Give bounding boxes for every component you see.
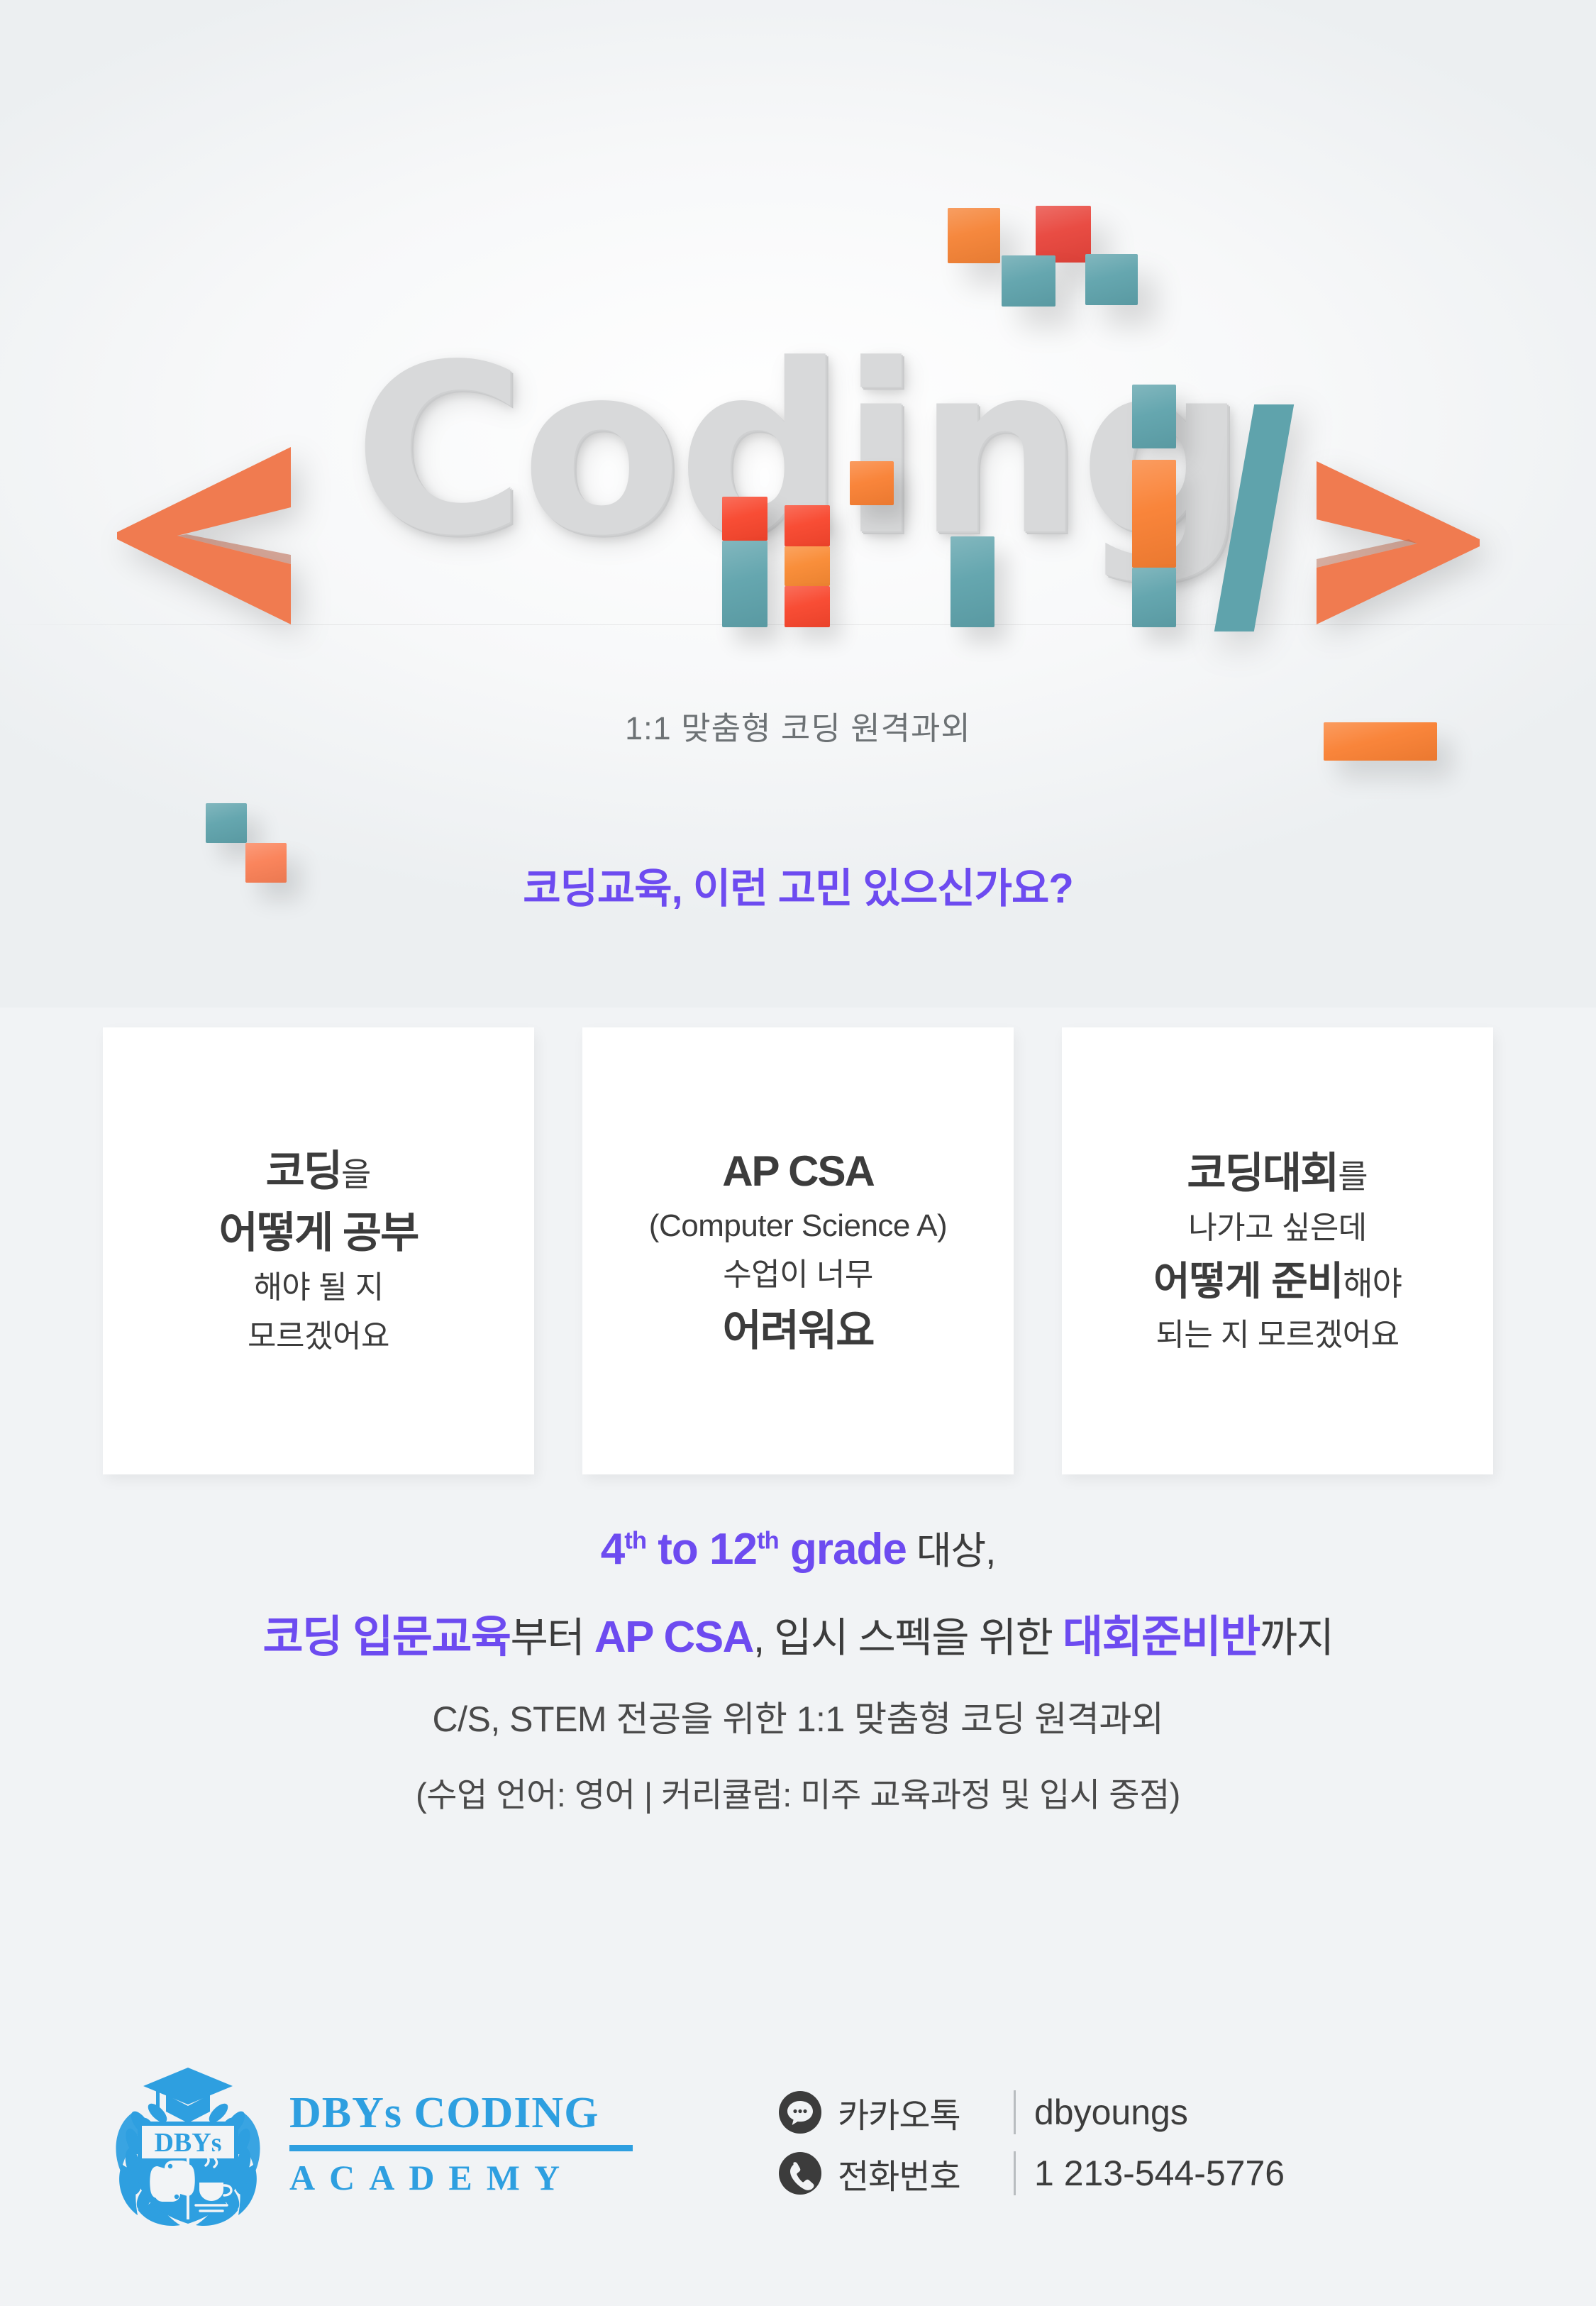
- hero-headline: 코딩교육, 이런 고민 있으신가요?: [0, 855, 1596, 915]
- pain-point-cards: 코딩을 어떻게 공부 해야 될 지 모르겠어요 AP CSA (Computer…: [103, 1027, 1493, 1474]
- program-apcsa: AP CSA: [594, 1613, 753, 1662]
- decor-block-orange-n: [850, 461, 894, 505]
- contact-label-kakao: 카카오톡: [838, 2087, 995, 2137]
- contact-value-kakao[interactable]: dbyoungs: [1034, 2092, 1188, 2133]
- contact-row-phone[interactable]: 전화번호 1 213-544-5776: [778, 2143, 1285, 2204]
- copy-row-grade: 4th to 12th grade 대상,: [0, 1522, 1596, 1577]
- decor-block-orange-top: [948, 208, 1000, 263]
- pain-point-card-1[interactable]: 코딩을 어떻게 공부 해야 될 지 모르겠어요: [103, 1027, 534, 1474]
- footer-section: DBYs: [0, 2036, 1596, 2249]
- card2-line2: (Computer Science A): [649, 1208, 947, 1245]
- decor-bar-orange-right: [1324, 722, 1437, 761]
- decor-block-red-d: [722, 497, 767, 541]
- brand-line-1: DBYs CODING: [289, 2091, 633, 2135]
- pain-point-card-3[interactable]: 코딩대회를 나가고 싶은데 어떻게 준비해야 되는 지 모르겠어요: [1062, 1027, 1493, 1474]
- card2-line3: 수업이 너무: [723, 1257, 873, 1293]
- program-contest: 대회준비반: [1063, 1613, 1260, 1662]
- contact-value-phone[interactable]: 1 213-544-5776: [1034, 2153, 1285, 2194]
- body-copy: 4th to 12th grade 대상, 코딩 입문교육부터 AP CSA, …: [0, 1522, 1596, 1848]
- card3-line3: 어떻게 준비해야: [1153, 1259, 1402, 1304]
- contact-divider-2: [1014, 2151, 1016, 2195]
- decor-block-teal-left: [206, 803, 247, 843]
- academy-crest-logo-icon: DBYs: [106, 2058, 270, 2228]
- decor-block-red-i-bot: [785, 586, 830, 627]
- card1-line3: 해야 될 지: [253, 1270, 383, 1306]
- program-text-3: 까지: [1260, 1615, 1334, 1661]
- decor-block-teal-n: [951, 536, 994, 627]
- kakaotalk-icon: [778, 2090, 822, 2134]
- phone-icon: [778, 2151, 822, 2195]
- decor-block-teal-g-top: [1132, 385, 1176, 448]
- pain-point-card-2[interactable]: AP CSA (Computer Science A) 수업이 너무 어려워요: [582, 1027, 1014, 1474]
- decor-block-red-i-top: [785, 505, 830, 546]
- decor-block-red-top: [1036, 206, 1091, 263]
- program-text-1: 부터: [510, 1615, 594, 1661]
- card1-line1: 코딩을: [266, 1147, 372, 1196]
- card1-line4: 모르겠어요: [248, 1319, 389, 1355]
- brand-block[interactable]: DBYs: [106, 2058, 633, 2228]
- grade-tail: 대상,: [907, 1530, 995, 1572]
- copy-row-major: C/S, STEM 전공을 위한 1:1 맞춤형 코딩 원격과외: [0, 1697, 1596, 1742]
- python-icon: [150, 2161, 195, 2202]
- copy-row-note: (수업 언어: 영어 | 커리큘럼: 미주 교육과정 및 입시 중점): [0, 1775, 1596, 1816]
- contact-divider-1: [1014, 2090, 1016, 2134]
- card2-line1: AP CSA: [722, 1147, 874, 1196]
- decor-block-teal-g-bot: [1132, 568, 1176, 627]
- card3-line2: 나가고 싶은데: [1188, 1210, 1367, 1247]
- decor-block-teal-top-b: [1085, 254, 1138, 305]
- grade-range: 4th to 12th grade: [601, 1525, 907, 1574]
- decor-block-orange-i-mid: [785, 546, 830, 586]
- contact-block: 카카오톡 dbyoungs 전화번호 1 213-544-5776: [778, 2082, 1285, 2204]
- brand-wordmark: DBYs CODING ACADEMY: [289, 2091, 633, 2195]
- contact-label-phone: 전화번호: [838, 2148, 995, 2198]
- decor-block-teal-d: [722, 541, 767, 627]
- poster-root: Coding 1:1 맞춤형 코딩 원격과외 코딩교육, 이런 고민 있으신가요…: [0, 0, 1596, 2306]
- copy-row-programs: 코딩 입문교육부터 AP CSA, 입시 스펙을 위한 대회준비반까지: [0, 1610, 1596, 1665]
- decor-block-orange-g: [1132, 460, 1176, 568]
- card3-line4: 되는 지 모르겠어요: [1156, 1318, 1399, 1354]
- angle-bracket-right-icon: [1309, 454, 1487, 631]
- brand-line-2: ACADEMY: [289, 2160, 633, 2195]
- hero-section: Coding 1:1 맞춤형 코딩 원격과외 코딩교육, 이런 고민 있으신가요…: [0, 0, 1596, 1008]
- brand-divider: [289, 2145, 633, 2151]
- contact-row-kakao[interactable]: 카카오톡 dbyoungs: [778, 2082, 1285, 2143]
- card3-line1: 코딩대회를: [1187, 1149, 1368, 1198]
- card2-line4: 어려워요: [723, 1306, 874, 1355]
- shield-label: DBYs: [154, 2128, 221, 2158]
- program-intro: 코딩 입문교육: [263, 1613, 511, 1662]
- card1-line2: 어떻게 공부: [219, 1208, 419, 1257]
- decor-block-teal-top-a: [1002, 255, 1055, 307]
- program-text-2: , 입시 스펙을 위한: [753, 1615, 1063, 1661]
